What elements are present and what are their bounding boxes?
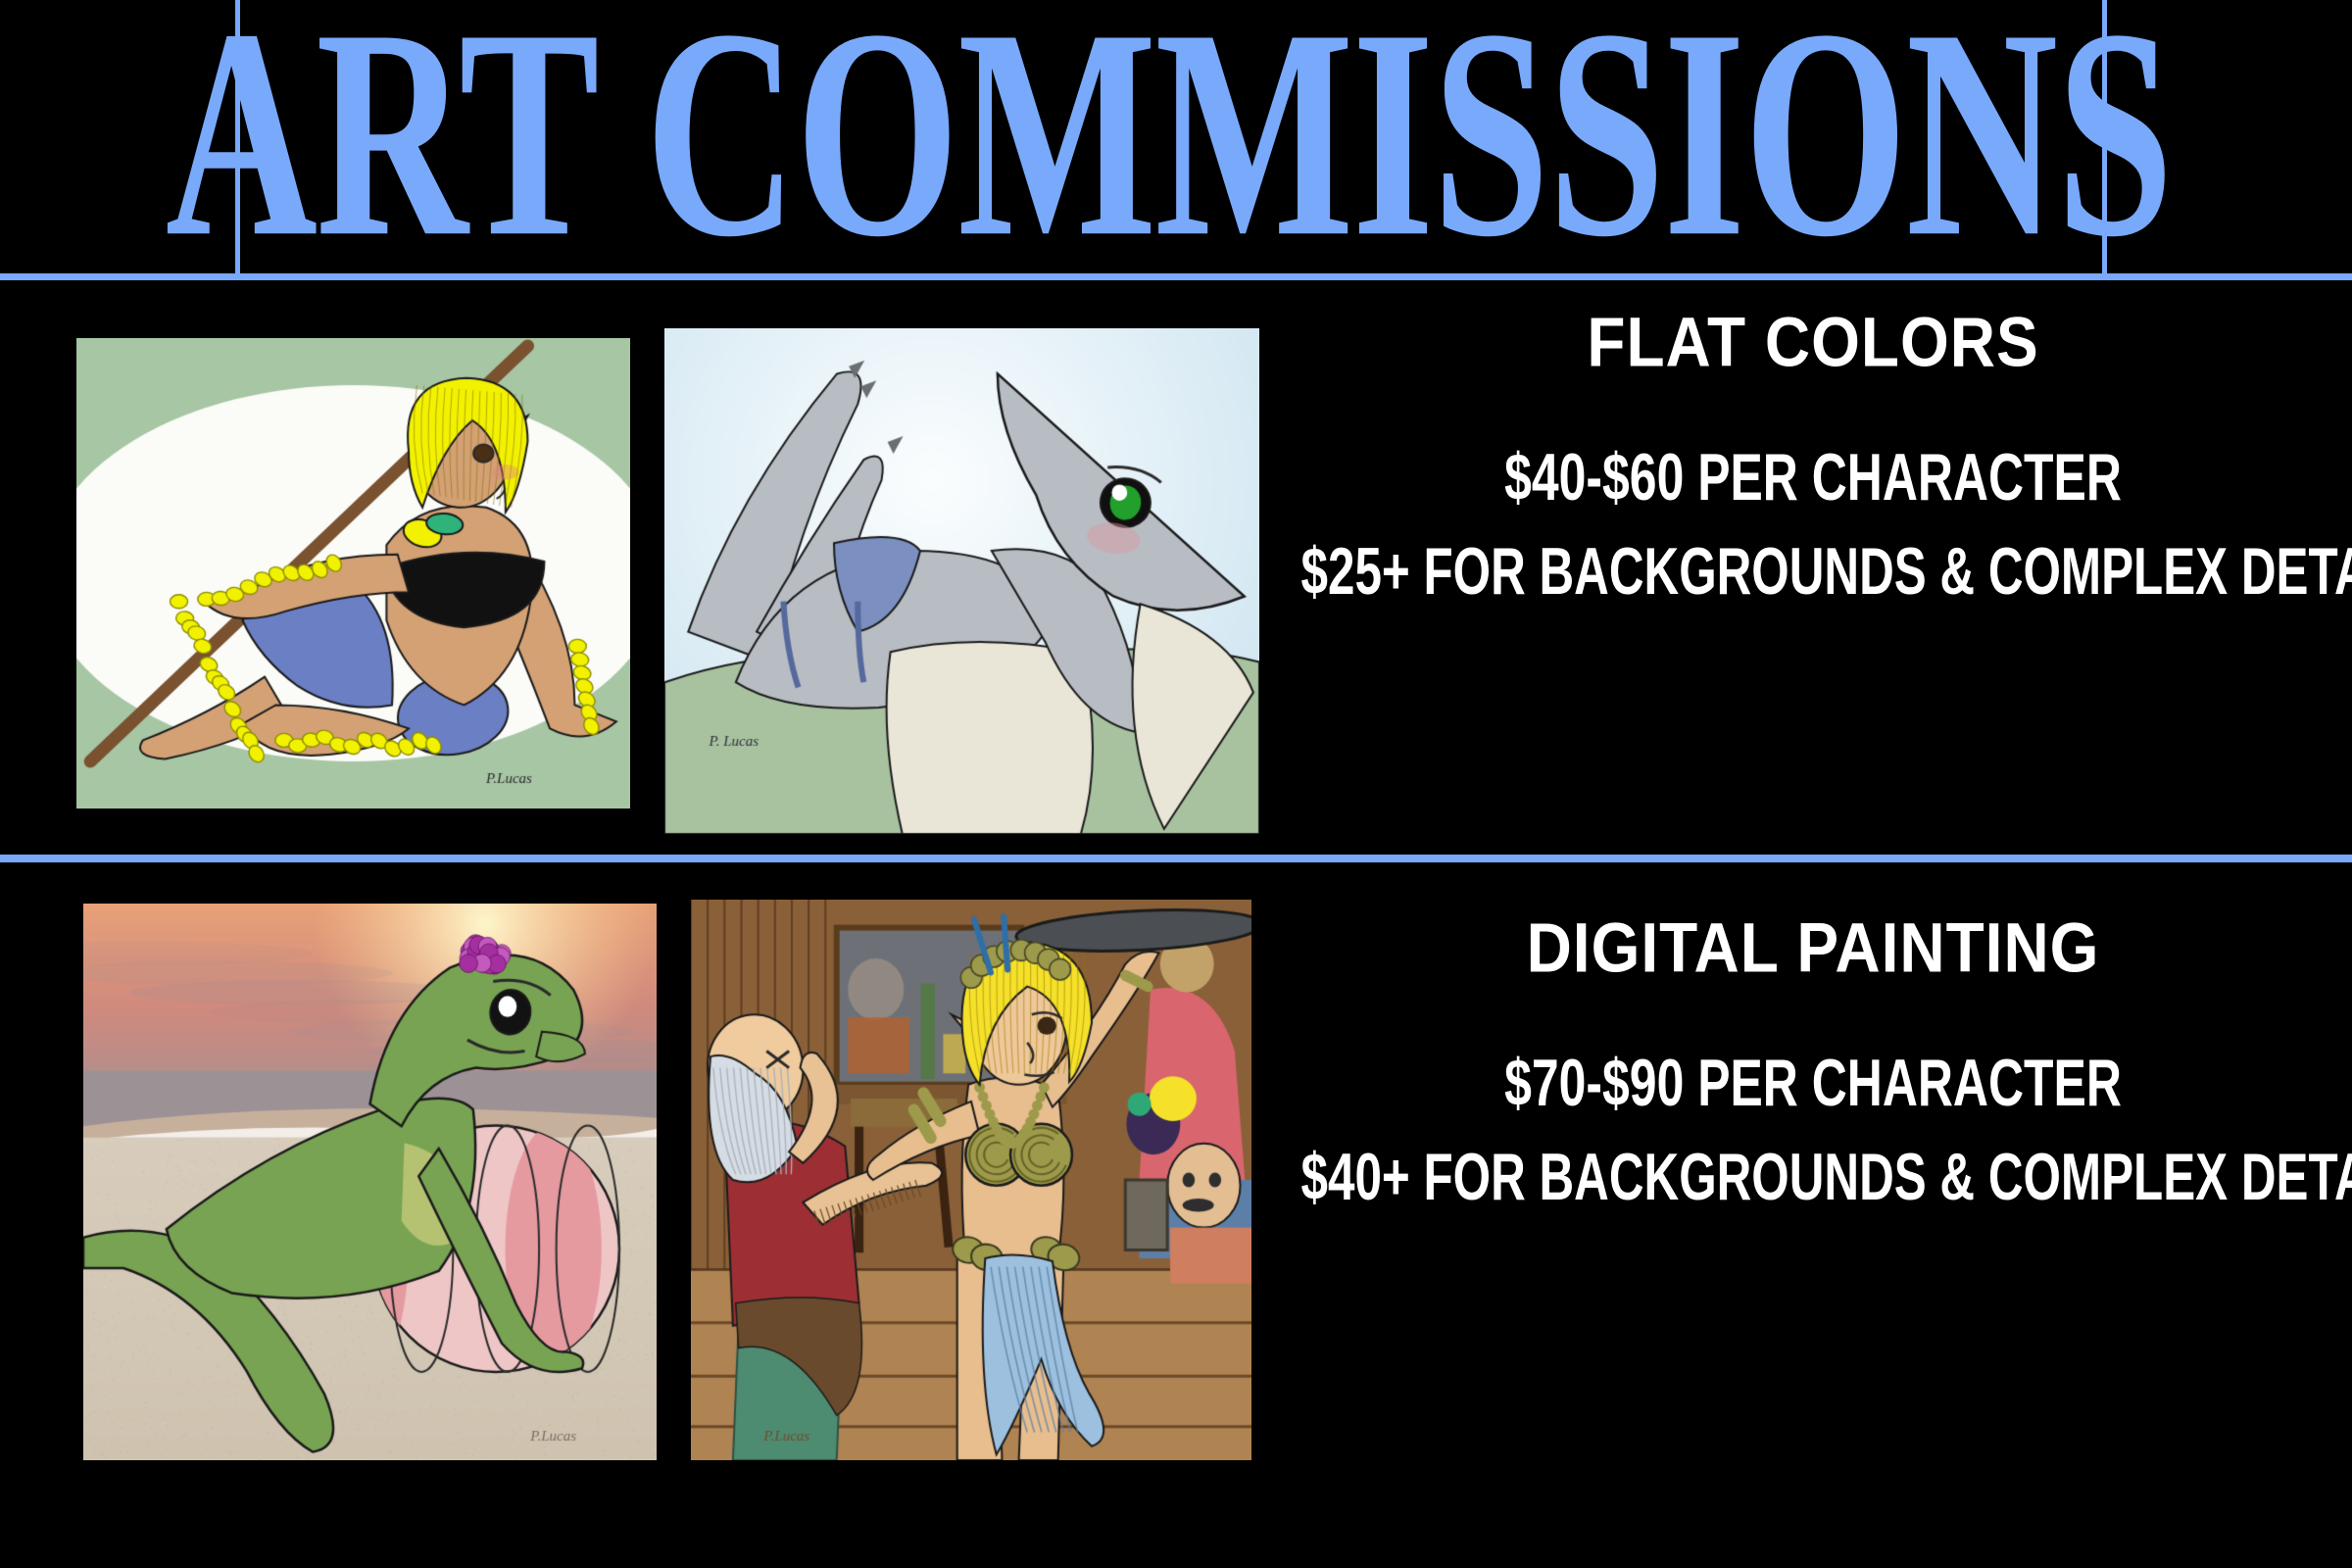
tier-price-extras-flat: $25+ FOR BACKGROUNDS & COMPLEX DETAILS	[1301, 534, 2326, 611]
artwork-grey-dragoness	[664, 328, 1259, 834]
tier-copy-digital-painting: DIGITAL PAINTING $70-$90 PER CHARACTER $…	[1274, 862, 2352, 1568]
artwork-tavern-waitress	[691, 900, 1251, 1460]
tier-heading-digital-painting: DIGITAL PAINTING	[1274, 907, 2352, 989]
artwork-elf-with-staff	[76, 338, 630, 808]
artwork-green-lizard-beach	[83, 904, 657, 1460]
page-title: ART COMMISSIONS	[366, 0, 1971, 303]
tier-price-per-character-flat: $40-$60 PER CHARACTER	[1296, 440, 2330, 516]
tier-price-per-character-painting: $70-$90 PER CHARACTER	[1296, 1046, 2330, 1122]
poster-header: ART COMMISSIONS	[0, 0, 2352, 280]
commission-poster: ART COMMISSIONS FLAT COLORS $40-$60 PER …	[0, 0, 2352, 1568]
tier-price-extras-painting: $40+ FOR BACKGROUNDS & COMPLEX DETAILS	[1301, 1140, 2326, 1216]
section-divider	[0, 855, 2352, 862]
tier-heading-flat-colors: FLAT COLORS	[1274, 302, 2352, 383]
tier-copy-flat-colors: FLAT COLORS $40-$60 PER CHARACTER $25+ F…	[1274, 280, 2352, 855]
